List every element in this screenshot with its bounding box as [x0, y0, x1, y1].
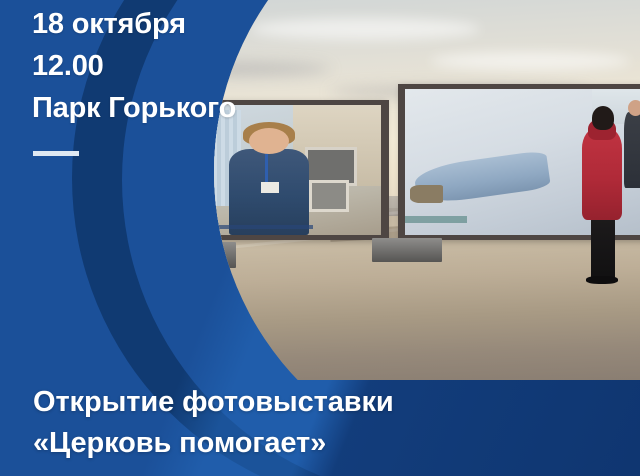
cloud-3 [430, 52, 630, 70]
cloud-2 [250, 18, 480, 40]
stand-base-left [214, 242, 236, 268]
exhibit-panel-2 [214, 100, 386, 240]
panel-2-caption-strip [214, 225, 313, 229]
event-date: 18 октября [32, 4, 236, 46]
visitor-background-person-head [628, 100, 640, 116]
panel-2-badge [261, 182, 279, 194]
event-time: 12.00 [32, 46, 236, 88]
visitor-background-person [624, 112, 640, 188]
event-title-line-2: «Церковь помогает» [33, 423, 394, 464]
stand-base-right [372, 238, 442, 262]
rule-divider [33, 151, 79, 156]
panel-2-image [214, 105, 381, 235]
event-poster: 18 октября 12.00 Парк Горького Открытие … [0, 0, 640, 476]
visitor-red-coat-head [592, 106, 614, 130]
panel-2-monitor-secondary [309, 180, 349, 211]
event-title: Открытие фотовыставки «Церковь помогает» [33, 382, 394, 464]
visitor-red-coat-legs [591, 214, 615, 280]
event-venue: Парк Горького [32, 88, 236, 130]
frame-post-right-of-center [382, 100, 389, 250]
panel-2-lanyard [265, 154, 268, 183]
exhibition-photo [214, 0, 640, 380]
visitor-red-coat [582, 128, 622, 220]
event-title-line-1: Открытие фотовыставки [33, 382, 394, 423]
panel-3-rail [405, 216, 467, 223]
frame-post-panel3-left [398, 84, 405, 250]
panel-3-figure-shoe [410, 185, 444, 203]
visitor-red-coat-shoes [586, 276, 618, 284]
event-details: 18 октября 12.00 Парк Горького [32, 4, 236, 129]
